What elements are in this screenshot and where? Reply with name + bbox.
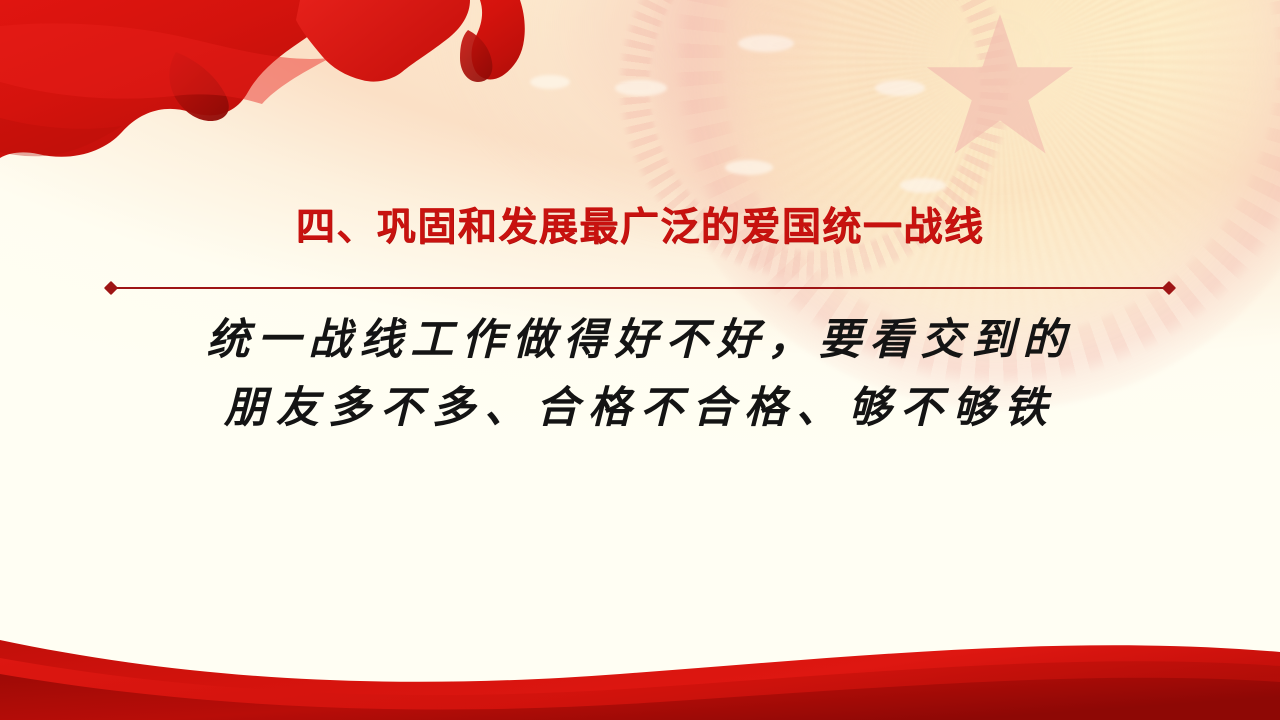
divider-diamond-right-icon <box>1162 281 1176 295</box>
slide-content: 四、巩固和发展最广泛的爱国统一战线 统一战线工作做得好不好，要看交到的 朋友多不… <box>0 0 1280 720</box>
divider-rule <box>112 287 1168 289</box>
title-divider <box>106 283 1174 293</box>
presentation-slide: 四、巩固和发展最广泛的爱国统一战线 统一战线工作做得好不好，要看交到的 朋友多不… <box>0 0 1280 720</box>
quote-line-2: 朋友多不多、合格不合格、够不够铁 <box>120 374 1160 442</box>
quote-block: 统一战线工作做得好不好，要看交到的 朋友多不多、合格不合格、够不够铁 <box>120 306 1160 442</box>
page-title: 四、巩固和发展最广泛的爱国统一战线 <box>0 206 1280 251</box>
quote-line-1: 统一战线工作做得好不好，要看交到的 <box>120 306 1160 374</box>
